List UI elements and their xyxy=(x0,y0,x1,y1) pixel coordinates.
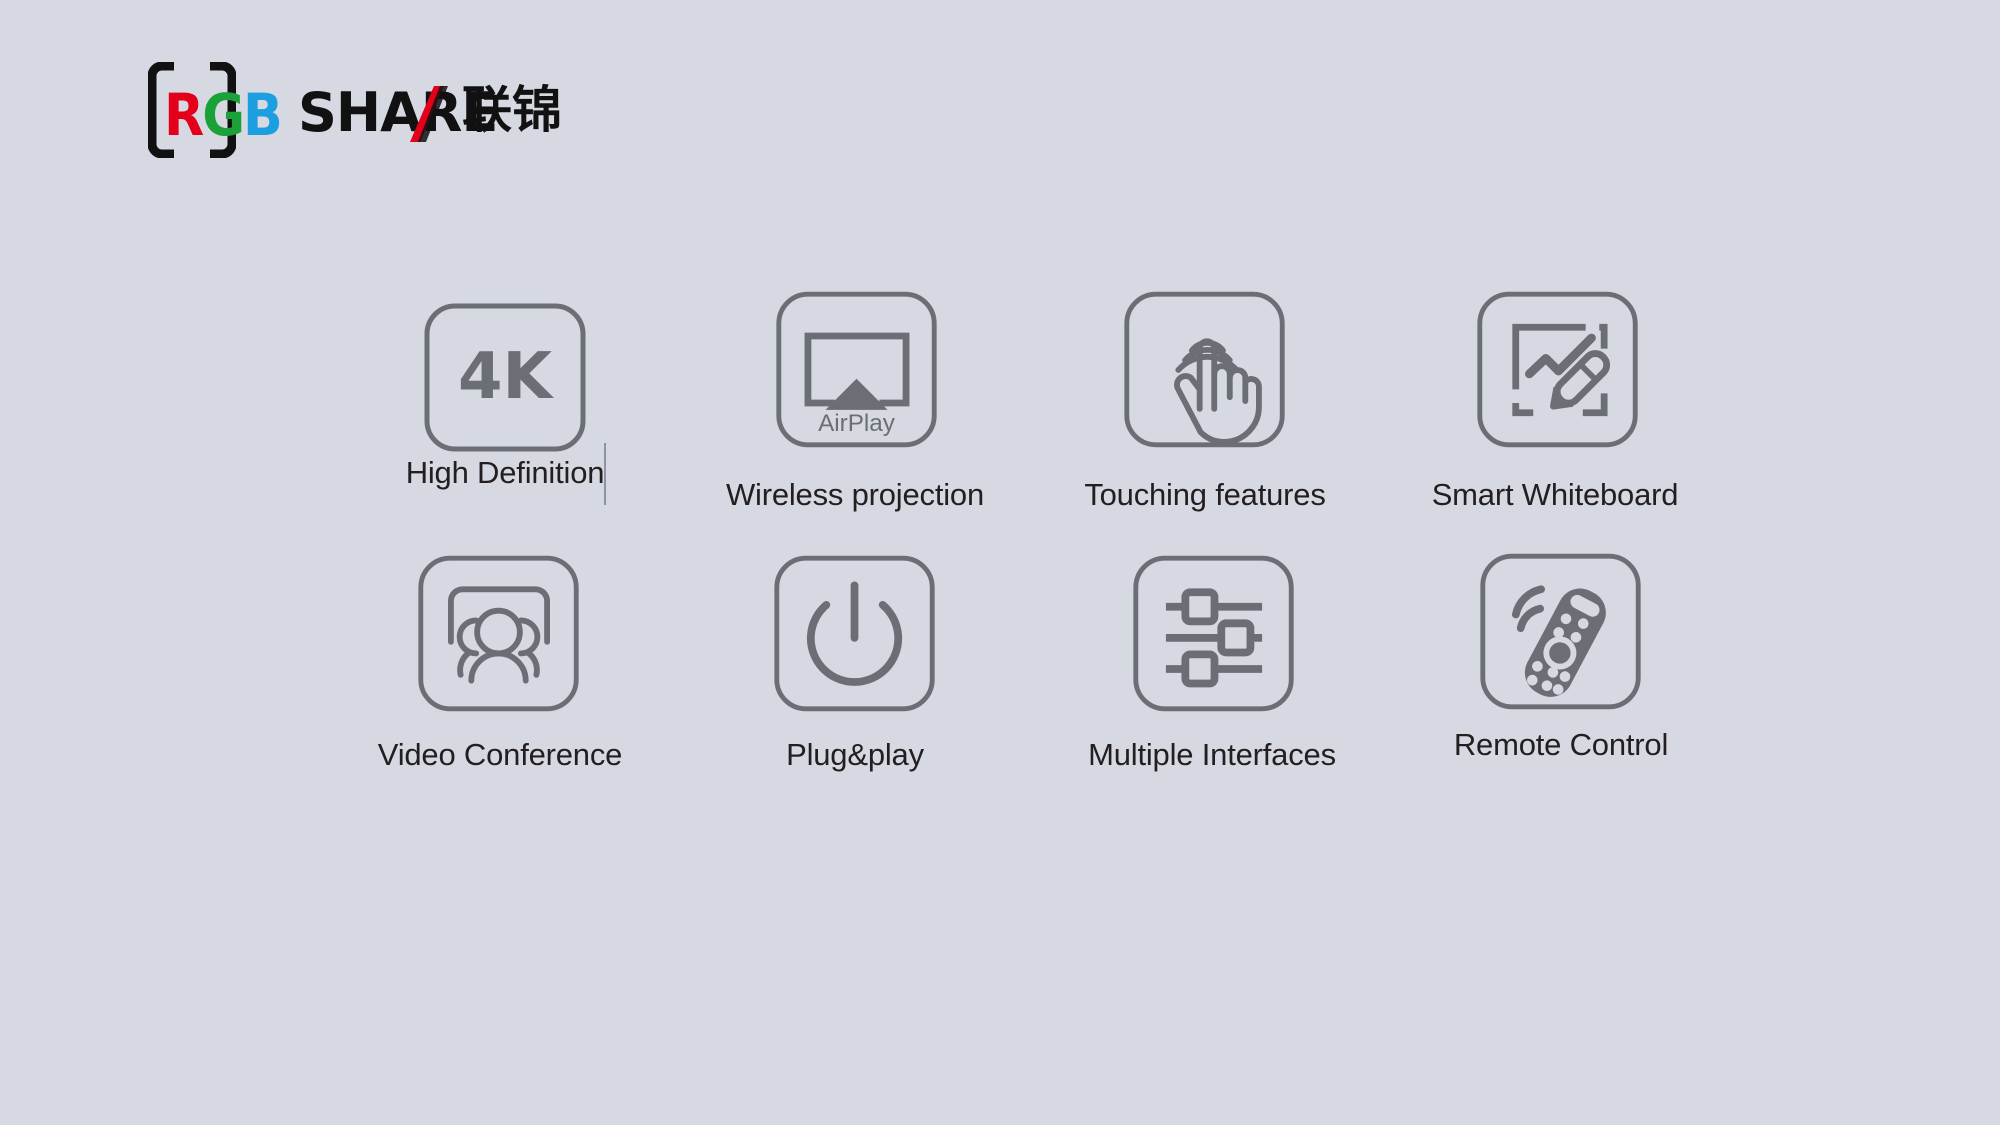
feature-label: Multiple Interfaces xyxy=(1088,737,1336,773)
feature-label: Wireless projection xyxy=(726,477,984,513)
feature-grid: 4K High Definition AirPlay Wireless proj… xyxy=(330,300,1730,773)
4k-icon: 4K xyxy=(420,300,590,455)
feature-item-touching-features[interactable]: Touching features xyxy=(1030,300,1380,513)
logo-letter-g: G xyxy=(202,81,243,149)
sliders-icon xyxy=(1129,556,1299,711)
feature-label: High Definition xyxy=(406,455,605,490)
feature-label: Touching features xyxy=(1084,477,1325,513)
feature-label: Video Conference xyxy=(378,737,622,773)
feature-item-plug-and-play[interactable]: Plug&play xyxy=(680,556,1030,773)
4k-icon-text: 4K xyxy=(458,340,555,414)
video-conference-icon xyxy=(414,556,584,711)
feature-label: Smart Whiteboard xyxy=(1432,477,1679,513)
feature-row: Video Conference Plug&play xyxy=(330,556,1730,773)
remote-control-icon xyxy=(1476,554,1646,709)
airplay-icon: AirPlay xyxy=(772,292,942,447)
feature-item-smart-whiteboard[interactable]: Smart Whiteboard xyxy=(1380,300,1730,513)
whiteboard-pen-icon xyxy=(1473,292,1643,447)
feature-label: Remote Control xyxy=(1454,727,1668,763)
power-icon xyxy=(770,556,940,711)
feature-item-remote-control[interactable]: Remote Control xyxy=(1380,556,1730,763)
logo-mark: RGB SHARE xyxy=(148,62,448,158)
logo: RGB SHARE 联锦 xyxy=(148,62,562,158)
feature-item-multiple-interfaces[interactable]: Multiple Interfaces xyxy=(1030,556,1380,773)
logo-share-text: SHARE xyxy=(298,86,497,140)
airplay-icon-text: AirPlay xyxy=(818,410,896,437)
feature-row: 4K High Definition AirPlay Wireless proj… xyxy=(330,300,1730,513)
logo-rgb-text: RGB xyxy=(164,86,281,144)
feature-label: Plug&play xyxy=(786,737,924,773)
text-caret xyxy=(604,443,606,505)
logo-letter-r: R xyxy=(164,81,202,149)
logo-slash-icon xyxy=(404,86,450,142)
logo-letter-b: B xyxy=(243,81,281,149)
logo-share-label: SHARE xyxy=(298,81,497,144)
feature-item-video-conference[interactable]: Video Conference xyxy=(330,556,680,773)
label-wrapper: High Definition xyxy=(406,455,605,491)
feature-item-high-definition[interactable]: 4K High Definition xyxy=(330,300,680,491)
touch-hand-icon xyxy=(1120,292,1290,447)
feature-item-wireless-projection[interactable]: AirPlay Wireless projection xyxy=(680,300,1030,513)
